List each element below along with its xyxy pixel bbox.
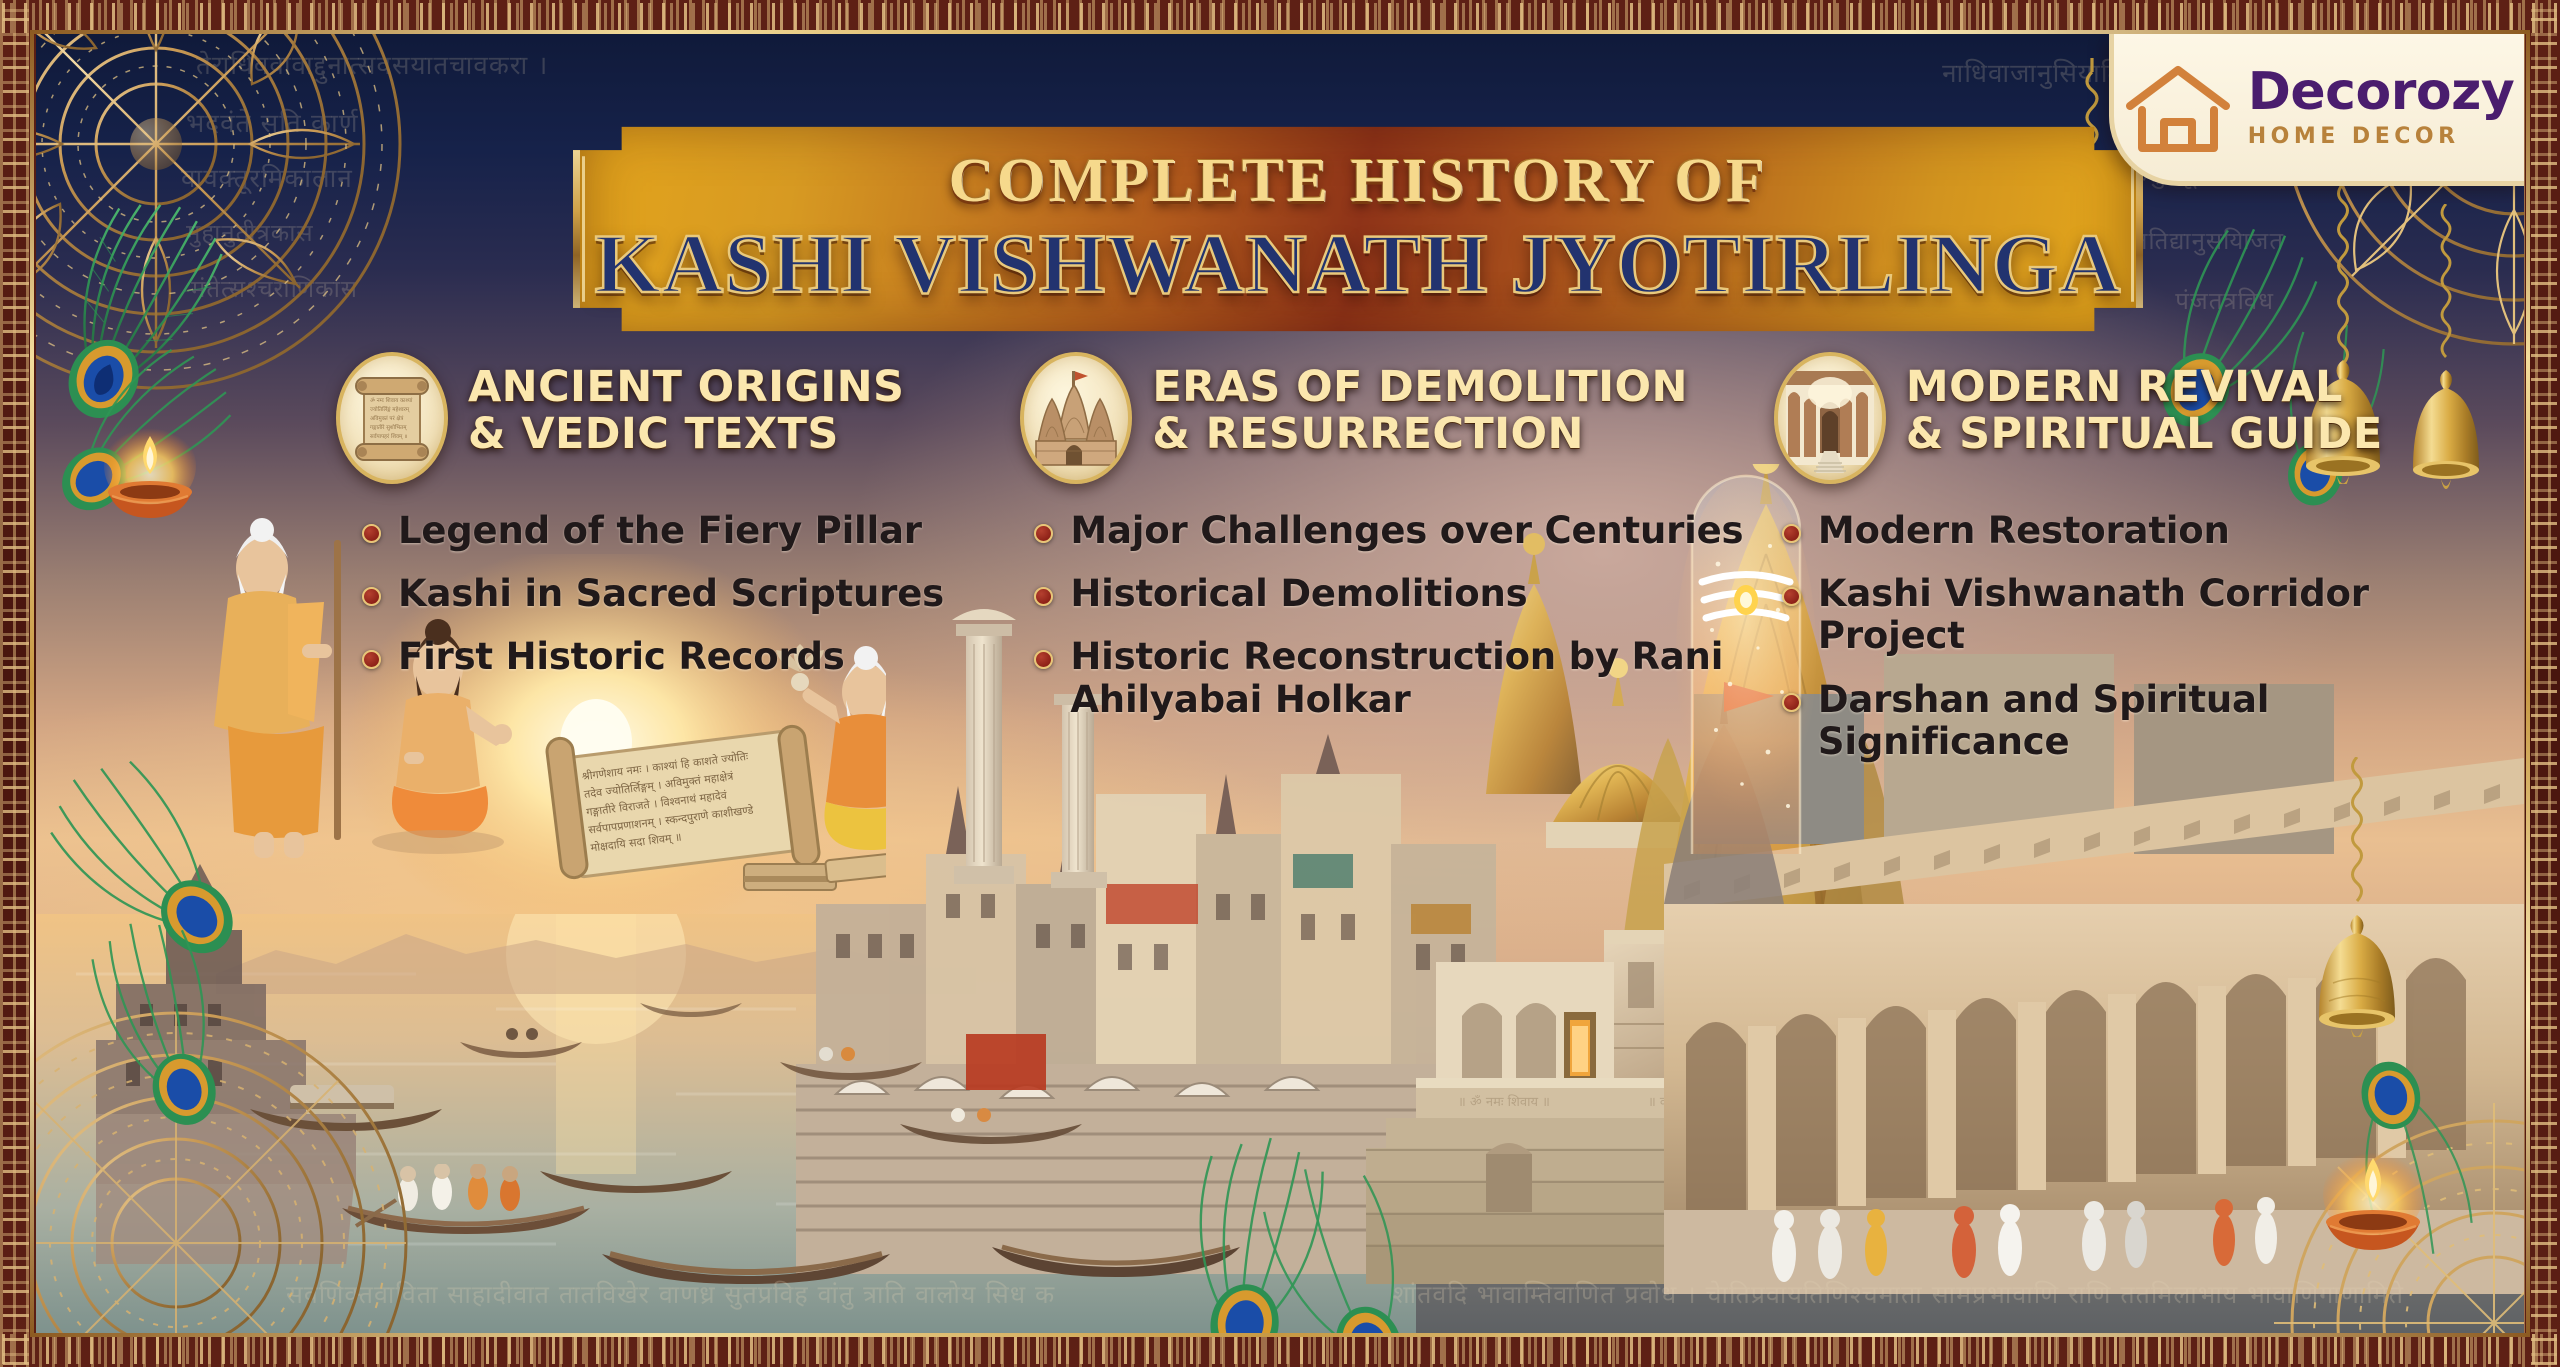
- bullet-dot-icon: [362, 587, 381, 606]
- bullet-label: First Historic Records: [398, 636, 845, 678]
- bullet-label: Historical Demolitions: [1070, 573, 1527, 615]
- bg-sanskrit-tl-5: मंतेत्सश्चराणिकास: [191, 272, 358, 305]
- column-title-line-1: ANCIENT ORIGINS: [468, 364, 904, 411]
- svg-text:सर्वपापहरं शिवम् ॥: सर्वपापहरं शिवम् ॥: [370, 433, 407, 440]
- bullet-label: Legend of the Fiery Pillar: [398, 510, 922, 552]
- brand-logo-badge[interactable]: Decorozy HOME DECOR: [2109, 34, 2524, 186]
- peacock-feather-icon: [36, 690, 308, 1026]
- list-item: Modern Restoration: [1782, 510, 2464, 552]
- border-scroll-pattern-right: [2531, 0, 2557, 1367]
- list-item: Historical Demolitions: [1034, 573, 1750, 615]
- svg-text:॥ काशी विश्वनाथ ॥: ॥ काशी विश्वनाथ ॥: [1648, 1094, 1744, 1110]
- boat-distant-1: [456, 1024, 586, 1064]
- svg-text:गङ्गातीरे विराजते । विश्वनाथं: गङ्गातीरे विराजते । विश्वनाथं महादेवं: [586, 789, 729, 819]
- list-item: Kashi in Sacred Scriptures: [362, 573, 1006, 615]
- bullet-list: Modern Restoration Kashi Vishwanath Corr…: [1774, 510, 2464, 763]
- peacock-feather-icon: [1202, 1099, 1480, 1333]
- boat-with-pilgrims: [336, 1164, 596, 1244]
- gold-rule-right: [2526, 30, 2530, 1337]
- scroll-manuscript-icon: ॐ नमः शिवाय काश्यां ज्योतिर्लिङ्गं महेश्…: [336, 352, 448, 484]
- column-modern-revival: MODERN REVIVAL & SPIRITUAL GUIDE Modern …: [1774, 352, 2464, 784]
- bg-sanskrit-tl-2: भदवंते सति कार्ण: [186, 104, 359, 140]
- border-scroll-pattern-bottom: [0, 1334, 2560, 1364]
- gold-rule-bottom: [30, 1333, 2530, 1337]
- title-banner: COMPLETE HISTORY OF KASHI VISHWANATH JYO…: [573, 113, 2143, 345]
- bullet-dot-icon: [1034, 650, 1053, 669]
- column-header: MODERN REVIVAL & SPIRITUAL GUIDE: [1774, 352, 2464, 484]
- oil-lamp-diya-icon: [90, 422, 210, 537]
- bg-sanskrit-tl-1: तेराधिववावाद्दुनात्सवसयातचावकरा ।: [196, 46, 548, 82]
- bullet-label: Kashi Vishwanath Corridor Project: [1818, 573, 2464, 657]
- column-title-line-2: & VEDIC TEXTS: [468, 411, 904, 458]
- column-header: ॐ नमः शिवाय काश्यां ज्योतिर्लिङ्गं महेश्…: [336, 352, 1006, 484]
- brand-tagline: HOME DECOR: [2248, 124, 2460, 149]
- svg-text:॥ ज्योतिर्लिंग ॥: ॥ ज्योतिर्लिंग ॥: [1836, 1094, 1908, 1110]
- bullet-dot-icon: [1782, 524, 1801, 543]
- svg-text:॥ ॐ नमः शिवाय ॥: ॥ ॐ नमः शिवाय ॥: [1458, 1094, 1550, 1110]
- bullet-label: Historic Reconstruction by Rani Ahilyaba…: [1070, 636, 1750, 720]
- bg-sanskrit-tr-4: पंजतत्रविध: [2175, 284, 2274, 317]
- column-title-line-2: & SPIRITUAL GUIDE: [1906, 411, 2383, 458]
- list-item: Kashi Vishwanath Corridor Project: [1782, 573, 2464, 657]
- boat-distant-4: [896, 1104, 1086, 1152]
- bg-sanskrit-tr-3: ततिद्यानुसयिाजत: [2134, 224, 2284, 257]
- bullet-label: Darshan and Spiritual Significance: [1818, 679, 2464, 763]
- bullet-list: Major Challenges over Centuries Historic…: [1020, 510, 1750, 721]
- boat-foreground-right: [986, 1219, 1246, 1293]
- column-title-line-1: ERAS OF DEMOLITION: [1152, 364, 1687, 411]
- column-title-line-1: MODERN REVIVAL: [1906, 364, 2383, 411]
- svg-text:मोक्षदायि सदा शिवम् ॥: मोक्षदायि सदा शिवम् ॥: [590, 830, 682, 854]
- svg-text:अविमुक्तं परं क्षेत्रं: अविमुक्तं परं क्षेत्रं: [370, 415, 404, 422]
- mandala-corner-top-left: [36, 34, 416, 404]
- column-title: MODERN REVIVAL & SPIRITUAL GUIDE: [1906, 352, 2383, 458]
- bullet-dot-icon: [362, 650, 381, 669]
- bullet-dot-icon: [1034, 587, 1053, 606]
- bg-sanskrit-tl-4: मुहानुतीत्रकास: [186, 216, 314, 249]
- sage-standing: [214, 518, 341, 858]
- column-ancient-origins: ॐ नमः शिवाय काश्यां ज्योतिर्लिङ्गं महेश्…: [336, 352, 1006, 784]
- bullet-label: Modern Restoration: [1818, 510, 2230, 552]
- bg-sanskrit-tl-3: वावक्तूरमिकालान: [181, 159, 353, 195]
- mandala-corner-bottom-left: [36, 983, 436, 1333]
- list-item: First Historic Records: [362, 636, 1006, 678]
- bullet-list: Legend of the Fiery Pillar Kashi in Sacr…: [336, 510, 1006, 679]
- border-scroll-pattern-top: [0, 3, 2560, 33]
- bg-sanskrit-bottom-1: सवणिक्तवाविता साहादीवात तातविखेर वाणध्र …: [286, 1277, 1055, 1311]
- bullet-label: Kashi in Sacred Scriptures: [398, 573, 944, 615]
- mandala-corner-bottom-right: [2234, 1063, 2524, 1333]
- ganga-river: [36, 914, 1416, 1333]
- distant-shoreline: [216, 854, 976, 994]
- column-eras-of-demolition: ERAS OF DEMOLITION & RESURRECTION Major …: [1020, 352, 1750, 784]
- boat-canopy: [246, 1079, 446, 1137]
- column-title: ERAS OF DEMOLITION & RESURRECTION: [1152, 352, 1687, 458]
- bullet-label: Major Challenges over Centuries: [1070, 510, 1743, 552]
- list-item: Major Challenges over Centuries: [1034, 510, 1750, 552]
- peacock-feather-icon: [36, 286, 296, 579]
- list-item: Legend of the Fiery Pillar: [362, 510, 1006, 552]
- temple-corridor-icon: [1774, 352, 1886, 484]
- column-title-line-2: & RESURRECTION: [1152, 411, 1687, 458]
- boat-distant-3: [776, 1044, 926, 1086]
- column-title: ANCIENT ORIGINS & VEDIC TEXTS: [468, 352, 904, 458]
- brand-name: Decorozy: [2248, 66, 2515, 118]
- content-columns: ॐ नमः शिवाय काश्यां ज्योतिर्लिङ्गं महेश्…: [336, 352, 2464, 784]
- svg-text:ज्योतिर्लिङ्गं महेश्वरम्: ज्योतिर्लिङ्गं महेश्वरम्: [370, 406, 410, 413]
- poster-canvas: ॥ ॐ नमः शिवाय ॥ ॥ काशी विश्वनाथ ॥ ॥ ज्यो…: [36, 34, 2524, 1333]
- bullet-dot-icon: [1782, 587, 1801, 606]
- palm-leaf-manuscripts: [744, 852, 886, 890]
- gold-rule-left: [30, 30, 34, 1337]
- oil-lamp-diya-icon: [2308, 1146, 2438, 1271]
- svg-text:गङ्गातीरे सुशोभितम्: गङ्गातीरे सुशोभितम्: [370, 424, 407, 431]
- title-line-1: COMPLETE HISTORY OF: [949, 146, 1768, 217]
- boat-distant-2: [636, 989, 746, 1023]
- svg-text:सर्वपापप्रणाशनम् । स्कन्दपुराण: सर्वपापप्रणाशनम् । स्कन्दपुराणे काशीखण्ड…: [588, 804, 754, 837]
- left-ghat-buildings: [96, 864, 426, 1264]
- varanasi-ghat-city: [796, 734, 1496, 1274]
- infographic-poster: ॥ ॐ नमः शिवाय ॥ ॥ काशी विश्वनाथ ॥ ॥ ज्यो…: [0, 0, 2560, 1367]
- peacock-feather-icon: [36, 128, 285, 479]
- list-item: Historic Reconstruction by Rani Ahilyaba…: [1034, 636, 1750, 720]
- bullet-dot-icon: [1782, 693, 1801, 712]
- peacock-feather-icon: [38, 863, 283, 1172]
- list-item: Darshan and Spiritual Significance: [1782, 679, 2464, 763]
- boat-empty-large: [596, 1224, 896, 1294]
- peacock-feather-icon: [1136, 1081, 1376, 1333]
- border-scroll-pattern-left: [3, 0, 29, 1367]
- bullet-dot-icon: [362, 524, 381, 543]
- bullet-dot-icon: [1034, 524, 1053, 543]
- house-outline-icon: [2124, 62, 2232, 154]
- boat-small-right: [536, 1149, 736, 1201]
- peacock-feather-icon: [2293, 1015, 2524, 1310]
- column-header: ERAS OF DEMOLITION & RESURRECTION: [1020, 352, 1750, 484]
- title-line-2: KASHI VISHWANATH JYOTIRLINGA: [595, 215, 2122, 313]
- hanging-brass-bell-icon: [2302, 757, 2412, 1037]
- svg-text:ॐ नमः शिवाय काश्यां: ॐ नमः शिवाय काश्यां: [370, 397, 413, 404]
- bg-sanskrit-bottom-2: शांतवदि भावाम्तिवाणित प्रवोध । चेातिप्रव…: [1393, 1277, 2404, 1311]
- temple-shikhara-icon: [1020, 352, 1132, 484]
